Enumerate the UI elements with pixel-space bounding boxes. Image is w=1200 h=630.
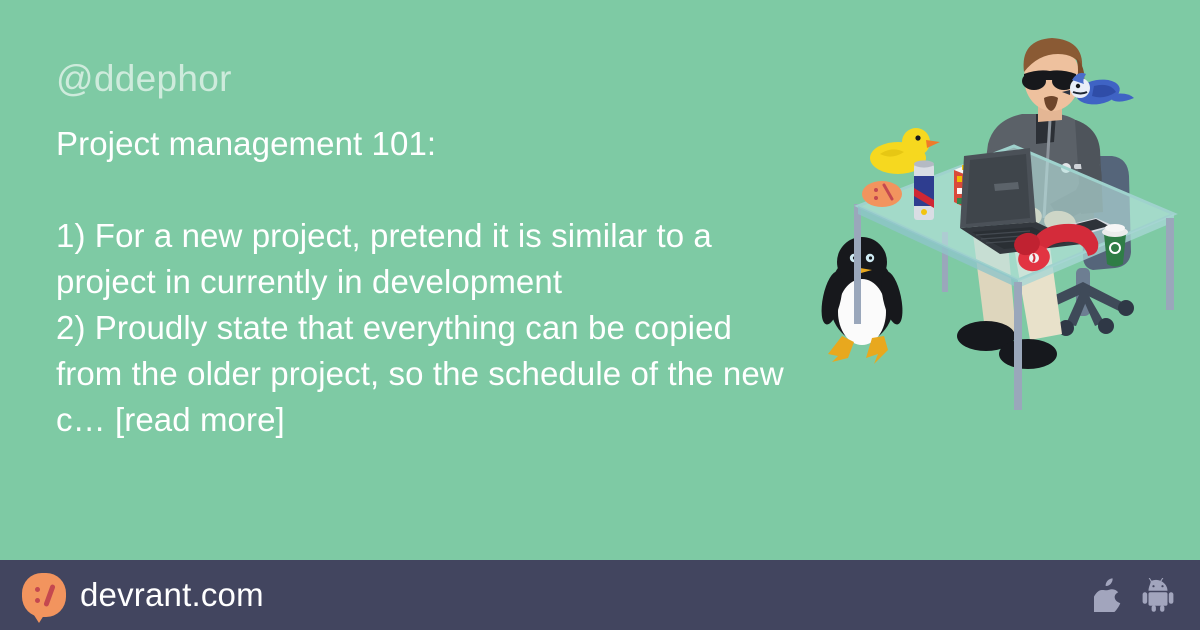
energy-drink-can (914, 160, 934, 220)
footer-bar: devrant.com (0, 560, 1200, 630)
apple-icon[interactable] (1094, 578, 1122, 612)
developer-illustration (814, 36, 1194, 476)
brand-link[interactable]: devrant.com (22, 573, 264, 617)
brand-name-label: devrant.com (80, 576, 264, 614)
devrant-logo-icon (22, 573, 66, 617)
android-icon[interactable] (1142, 578, 1174, 612)
devrant-sticker (862, 181, 902, 207)
post-username[interactable]: @ddephor (56, 58, 796, 101)
post-content: @ddephor Project management 101: 1) For … (56, 58, 796, 443)
penguin-figure (818, 237, 907, 364)
store-icon-group (1094, 578, 1174, 612)
devrant-post-card: @ddephor Project management 101: 1) For … (0, 0, 1200, 630)
post-body: Project management 101: 1) For a new pro… (56, 121, 796, 443)
